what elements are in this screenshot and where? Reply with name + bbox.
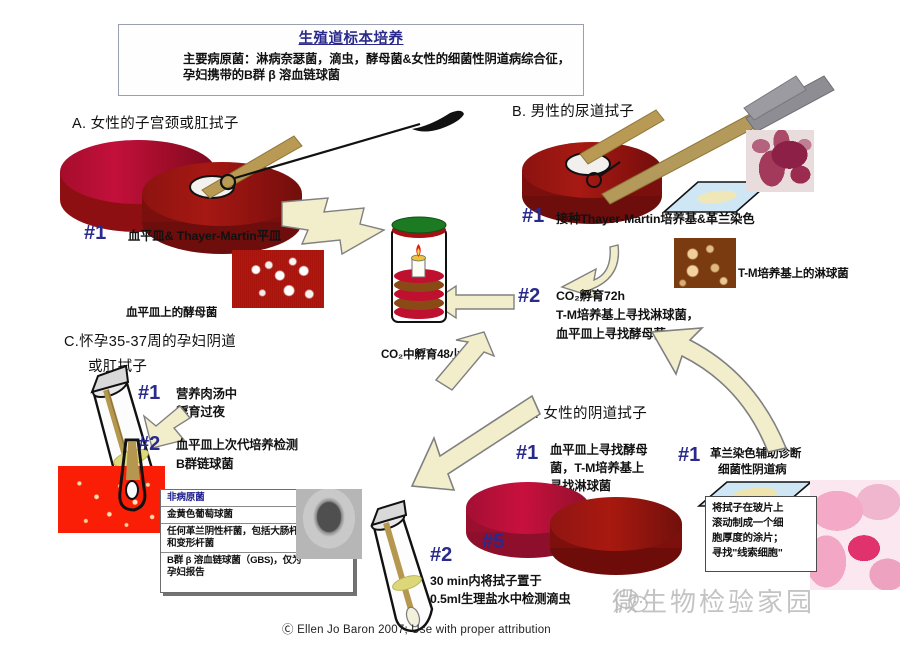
section-c-heading-line-1: C.怀孕35-37周的孕妇阴道 — [64, 330, 236, 351]
section-d-step2-number: #2 — [430, 544, 452, 567]
section-b-step2-line-2: T-M培养基上寻找淋球菌， — [556, 307, 699, 323]
title-subtitle-line-1: 主要病原菌：淋病奈瑟菌，滴虫，酵母菌&女性的细菌性阴道病综合征， — [183, 51, 573, 67]
clue-cell-line-3: 胞厚度的涂片； — [712, 531, 810, 546]
micrograph-gram-stain-urethral — [746, 130, 814, 192]
clue-cell-line-2: 滚动制成一个细 — [712, 516, 810, 531]
section-a-step1-text: 血平皿& Thayer-Martin平皿 — [128, 228, 281, 244]
section-b-step2-number: #2 — [518, 285, 540, 308]
section-c-step1-number: #1 — [138, 382, 160, 405]
section-d-step1-line-1: 血平皿上寻找酵母 — [550, 442, 648, 458]
section-d-heading: D. 女性的阴道拭子 — [524, 402, 647, 423]
section-d-step2-line-1: 30 min内将拭子置于 — [430, 573, 542, 589]
title-subtitle-line-2: 孕妇携带的B群 β 溶血链球菌 — [183, 67, 573, 83]
micrograph-yeast-on-blood-agar — [232, 250, 324, 308]
caption-yeast-on-blood-agar: 血平皿上的酵母菌 — [126, 305, 217, 320]
arrow-up-to-jar — [418, 330, 498, 394]
clue-cell-instruction-box: 将拭子在玻片上 滚动制成一个细 胞厚度的涂片； 寻找"线索细胞" — [705, 496, 817, 572]
section-b-step2-line-1: CO₂孵育72h — [556, 288, 625, 304]
watermark-text: 微生物检验家园 — [612, 582, 815, 619]
section-d-step2-line-2: 0.5ml生理盐水中检测滴虫 — [430, 591, 571, 607]
pointer-circle-b — [582, 158, 622, 192]
swab-black-tip — [410, 108, 466, 134]
clue-cell-line-1: 将拭子在玻片上 — [712, 501, 810, 516]
swab-metal-b-tip — [740, 74, 810, 116]
section-c-step2-line-1: 血平皿上次代培养检测 — [176, 437, 298, 453]
clue-cell-line-4: 寻找"线索细胞" — [712, 546, 810, 561]
title-subtitle: 主要病原菌：淋病奈瑟菌，滴虫，酵母菌&女性的细菌性阴道病综合征， 孕妇携带的B群… — [129, 51, 573, 83]
caption-gonococci-on-tm: T-M培养基上的淋球菌 — [738, 266, 849, 281]
section-a-step1-number: #1 — [84, 222, 106, 245]
pointer-line-a — [200, 120, 430, 200]
arrow-d-to-b — [650, 322, 790, 452]
arrow-a-to-jar — [280, 196, 390, 258]
section-b-step1-text: 接种Thayer-Martin培养基&革兰染色 — [556, 211, 755, 227]
plate-thayer-martin-d2 — [546, 486, 696, 582]
micrograph-trichomonas-wet-mount — [296, 489, 362, 559]
inoculating-loop — [104, 440, 164, 530]
copyright-credit: Ⓒ Ellen Jo Baron 2007; Use with proper a… — [282, 621, 551, 637]
candle-jar — [388, 214, 450, 326]
micrograph-gonococci-on-tm — [674, 238, 736, 288]
micrograph-clue-cells — [810, 480, 900, 590]
section-b-step1-number: #1 — [522, 205, 544, 228]
section-d-step5-number: #5 — [482, 531, 504, 554]
saline-tube-d — [352, 505, 448, 635]
section-c-step1-line-1: 营养肉汤中 — [176, 386, 237, 402]
section-c-step2-line-2: B群链球菌 — [176, 456, 234, 472]
title-box: 生殖道标本培养 主要病原菌：淋病奈瑟菌，滴虫，酵母菌&女性的细菌性阴道病综合征，… — [118, 24, 584, 96]
arrow-d-to-jar — [410, 394, 540, 494]
diagram-canvas: 生殖道标本培养 主要病原菌：淋病奈瑟菌，滴虫，酵母菌&女性的细菌性阴道病综合征，… — [0, 0, 900, 647]
page-title: 生殖道标本培养 — [129, 30, 573, 48]
